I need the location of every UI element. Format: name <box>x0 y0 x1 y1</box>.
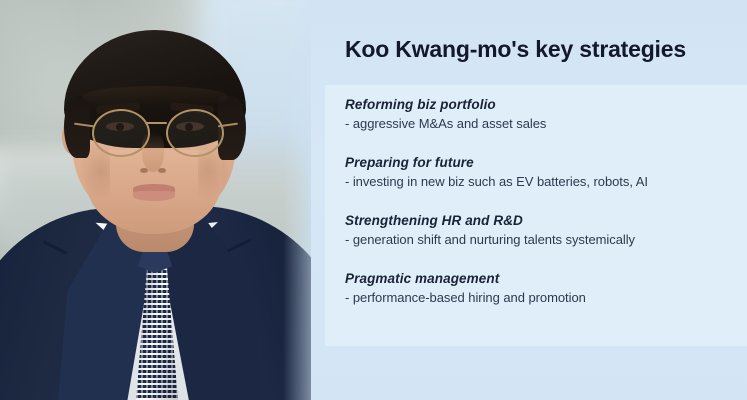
strategy-heading: Reforming biz portfolio <box>345 97 745 112</box>
strategy-heading: Preparing for future <box>345 155 745 170</box>
strategy-item: Reforming biz portfolio - aggressive M&A… <box>345 97 745 131</box>
glasses-bridge <box>145 122 167 124</box>
strategy-heading: Pragmatic management <box>345 271 745 286</box>
lower-lip <box>133 191 175 201</box>
strategy-item: Preparing for future - investing in new … <box>345 155 745 189</box>
strategies-card: Reforming biz portfolio - aggressive M&A… <box>325 85 747 346</box>
strategy-item: Pragmatic management - performance-based… <box>345 271 745 305</box>
strategy-detail: - generation shift and nurturing talents… <box>345 232 745 247</box>
glasses-lens-right <box>166 109 224 157</box>
portrait-photo <box>0 0 311 400</box>
strategy-detail: - aggressive M&As and asset sales <box>345 116 745 131</box>
hair-sideburn-left <box>64 96 90 158</box>
nostril-right <box>158 168 166 173</box>
strategies-panel: Koo Kwang-mo's key strategies Reforming … <box>311 0 747 400</box>
infographic-root: Koo Kwang-mo's key strategies Reforming … <box>0 0 747 400</box>
strategy-detail: - investing in new biz such as EV batter… <box>345 174 745 189</box>
nostril-left <box>140 168 148 173</box>
strategy-detail: - performance-based hiring and promotion <box>345 290 745 305</box>
strategy-item: Strengthening HR and R&D - generation sh… <box>345 213 745 247</box>
nose <box>142 132 164 172</box>
page-title: Koo Kwang-mo's key strategies <box>345 36 686 63</box>
strategy-heading: Strengthening HR and R&D <box>345 213 745 228</box>
